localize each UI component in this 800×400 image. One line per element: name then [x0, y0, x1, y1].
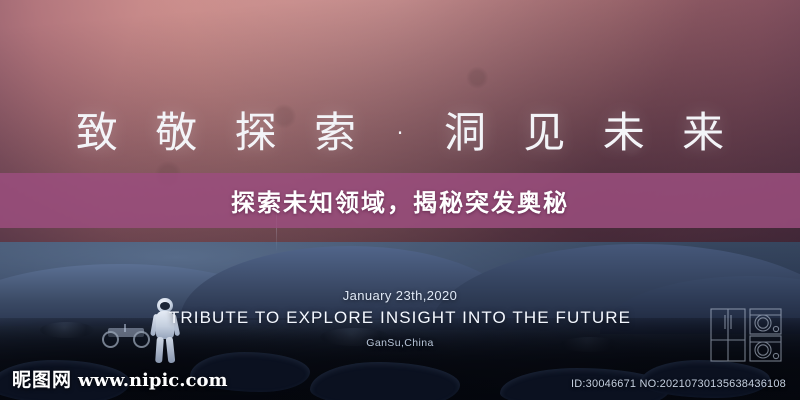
overlay-banner: 探索未知领域，揭秘突发奥秘: [0, 173, 800, 228]
stacked-washer-dryer-line-icon: [750, 309, 781, 361]
page-title: 致 敬 探 索 · 洞 见 未 来: [0, 112, 800, 154]
appliance-watermark: [710, 307, 782, 368]
watermark-site-name: 昵图网: [12, 365, 72, 392]
caption-location: GanSu,China: [0, 337, 800, 349]
image-id-strip: ID:30046671 NO:20210730135638436108: [571, 378, 786, 390]
site-watermark: 昵图网 www.nipic.com: [12, 365, 228, 392]
banner-headline: 探索未知领域，揭秘突发奥秘: [231, 183, 569, 218]
refrigerator-line-icon: [711, 309, 745, 361]
caption-tagline: TRIBUTE TO EXPLORE INSIGHT INTO THE FUTU…: [0, 308, 800, 328]
watermark-site-url: www.nipic.com: [78, 370, 228, 391]
caption-date: January 23th,2020: [0, 288, 800, 303]
caption-block: January 23th,2020 TRIBUTE TO EXPLORE INS…: [0, 288, 800, 349]
poster-image: 致 敬 探 索 · 洞 见 未 来 探索未知领域，揭秘突发奥秘 January …: [0, 0, 800, 400]
